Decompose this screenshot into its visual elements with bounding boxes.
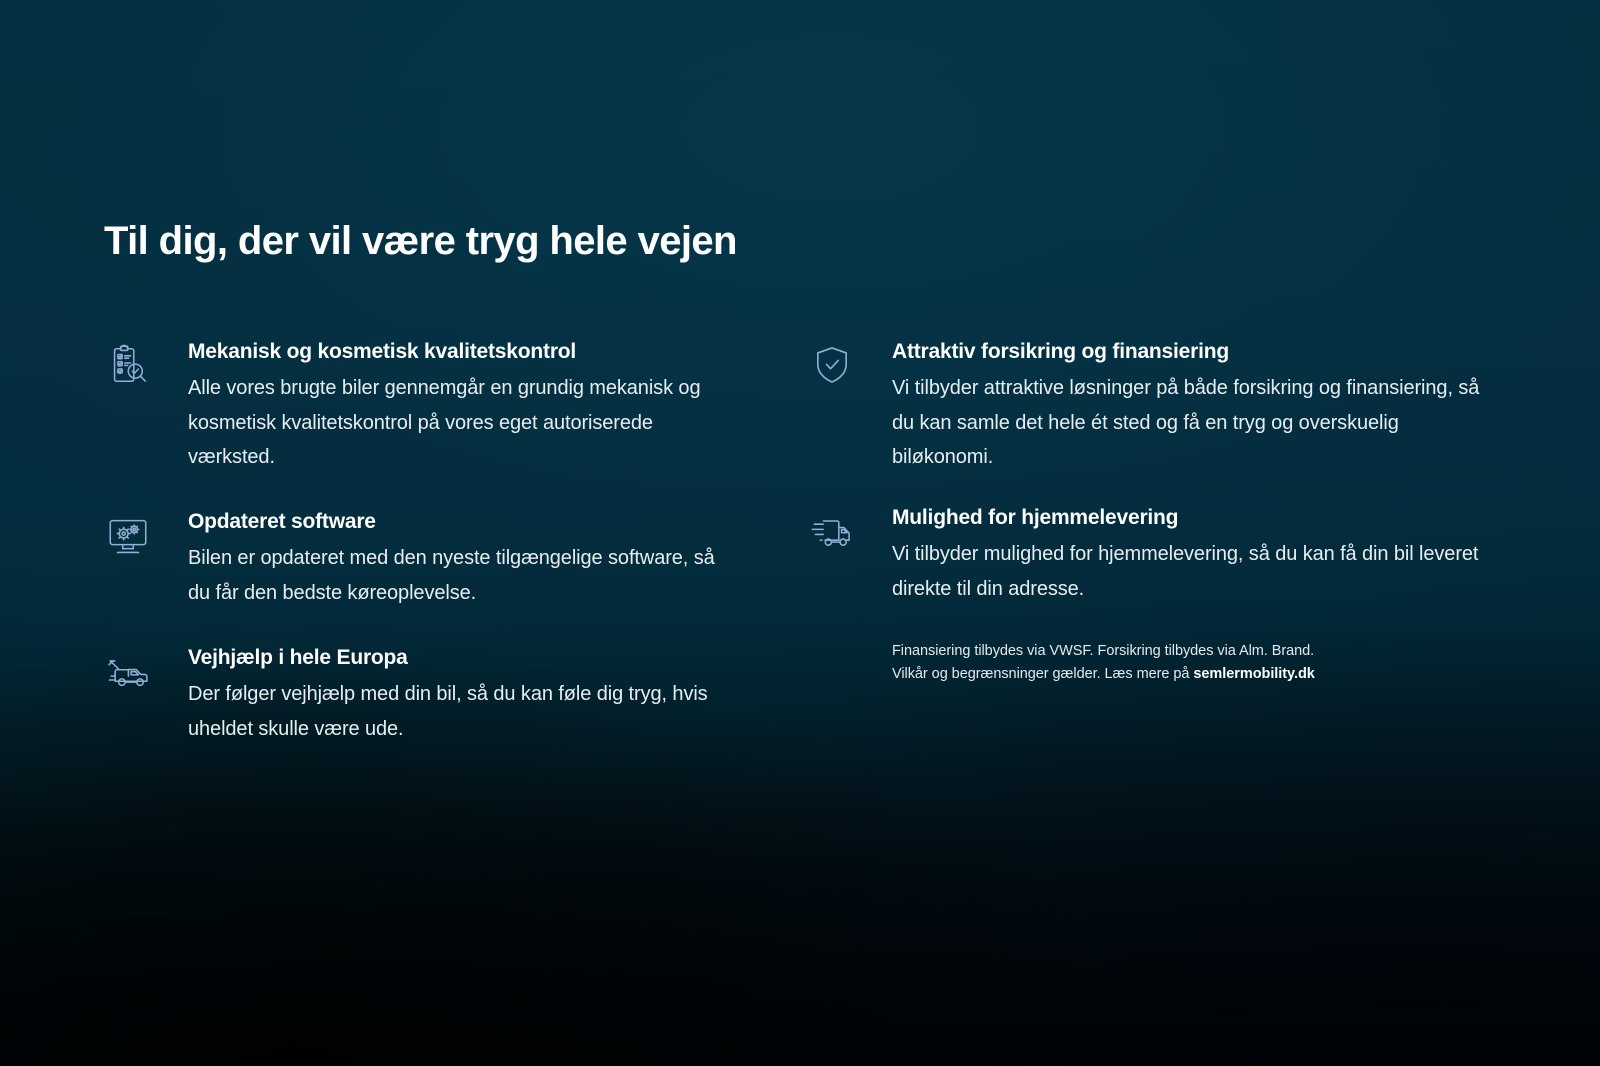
feature-column-left: Mekanisk og kosmetisk kvalitetskontrol A… [100,340,740,780]
legal-disclaimer: Finansiering tilbydes via VWSF. Forsikri… [892,640,1484,685]
tow-truck-icon [100,646,156,700]
delivery-truck-icon [804,506,860,560]
feature-description: Bilen er opdateret med den nyeste tilgæn… [188,541,740,610]
feature-column-right: Attraktiv forsikring og finansiering Vi … [804,340,1484,685]
feature-item-roadside-assistance: Vejhjælp i hele Europa Der følger vejhjæ… [100,646,740,746]
disclaimer-line-2-text: Vilkår og begrænsninger gælder. Læs mere… [892,666,1193,682]
feature-description: Der følger vejhjælp med din bil, så du k… [188,677,740,746]
feature-description: Vi tilbyder attraktive løsninger på både… [892,371,1484,474]
feature-title: Attraktiv forsikring og finansiering [892,340,1484,364]
feature-description: Alle vores brugte biler gennemgår en gru… [188,371,740,474]
shield-check-icon [804,340,860,394]
feature-title: Vejhjælp i hele Europa [188,646,740,670]
feature-item-software: Opdateret software Bilen er opdateret me… [100,510,740,610]
semlermobility-link[interactable]: semlermobility.dk [1193,666,1314,682]
monitor-gears-icon [100,510,156,564]
feature-title: Opdateret software [188,510,740,534]
feature-title: Mekanisk og kosmetisk kvalitetskontrol [188,340,740,364]
feature-item-quality-control: Mekanisk og kosmetisk kvalitetskontrol A… [100,340,740,474]
disclaimer-line-1: Finansiering tilbydes via VWSF. Forsikri… [892,640,1484,662]
feature-item-insurance-financing: Attraktiv forsikring og finansiering Vi … [804,340,1484,474]
promo-poster: Til dig, der vil være tryg hele vejen [0,0,1600,1066]
feature-description: Vi tilbyder mulighed for hjemmelevering,… [892,537,1484,606]
disclaimer-line-2: Vilkår og begrænsninger gælder. Læs mere… [892,663,1484,685]
clipboard-check-magnifier-icon [100,340,156,394]
feature-title: Mulighed for hjemmelevering [892,506,1484,530]
feature-item-home-delivery: Mulighed for hjemmelevering Vi tilbyder … [804,506,1484,606]
page-title: Til dig, der vil være tryg hele vejen [104,219,737,264]
